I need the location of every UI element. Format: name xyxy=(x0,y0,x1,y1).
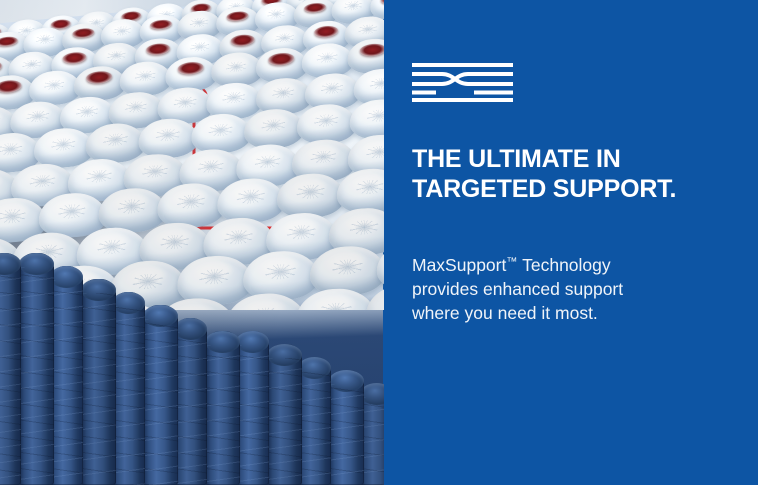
promo-banner: THE ULTIMATE IN TARGETED SUPPORT. MaxSup… xyxy=(0,0,758,485)
coil-top xyxy=(294,286,377,310)
navy-coil xyxy=(174,318,207,485)
product-suffix: Technology xyxy=(518,255,611,275)
navy-coil xyxy=(205,331,240,485)
navy-coil xyxy=(19,253,54,485)
body-line-3: where you need it most. xyxy=(412,301,712,325)
product-name: MaxSupport xyxy=(412,255,506,275)
product-photo xyxy=(0,0,384,485)
navy-coil xyxy=(50,266,83,485)
navy-coil xyxy=(81,279,116,485)
navy-coil xyxy=(143,305,178,485)
headline-line-1: THE ULTIMATE IN xyxy=(412,144,732,174)
navy-coil xyxy=(236,331,269,485)
white-coil-field xyxy=(0,0,384,310)
navy-coil xyxy=(112,292,145,485)
navy-coil xyxy=(329,370,364,485)
page-title: THE ULTIMATE IN TARGETED SUPPORT. xyxy=(412,144,732,204)
trademark-symbol: ™ xyxy=(506,256,517,268)
navy-coil xyxy=(0,253,21,485)
body-line-1: MaxSupport™ Technology xyxy=(412,250,712,277)
coil-top xyxy=(364,281,384,310)
headline-line-2: TARGETED SUPPORT. xyxy=(412,174,732,204)
navy-coil xyxy=(298,357,331,485)
body-line-2: provides enhanced support xyxy=(412,277,712,301)
body-copy: MaxSupport™ Technology provides enhanced… xyxy=(412,250,712,325)
wave-mark-logo xyxy=(412,62,513,102)
navy-coil xyxy=(267,344,302,485)
content-panel: THE ULTIMATE IN TARGETED SUPPORT. MaxSup… xyxy=(383,0,758,485)
